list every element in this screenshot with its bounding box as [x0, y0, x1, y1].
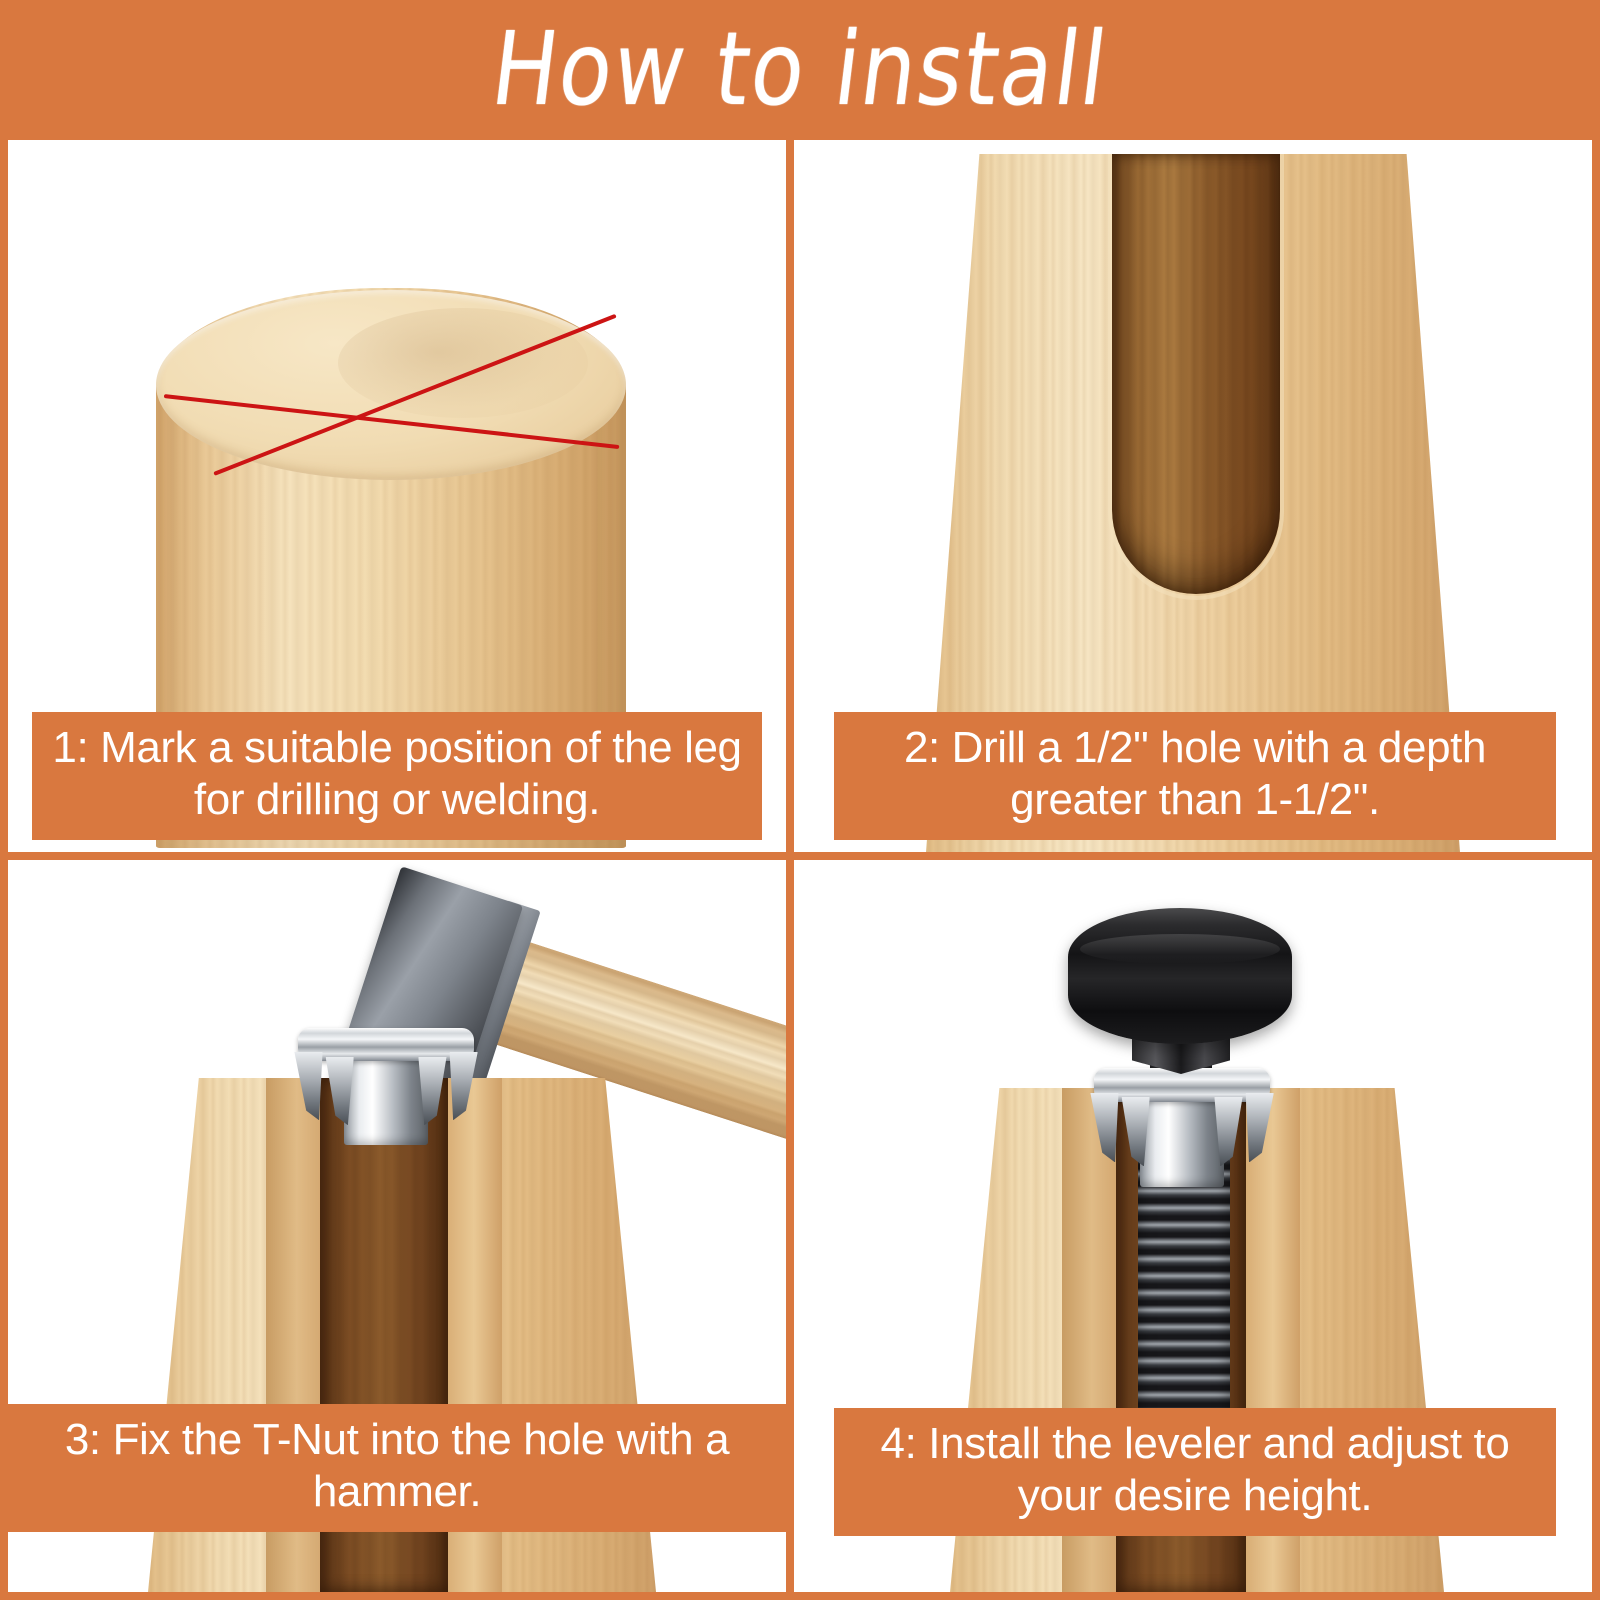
leveler-disc-highlight [1080, 934, 1280, 964]
step-panel-3: 3: Fix the T-Nut into the hole with a ha… [8, 860, 786, 1592]
t-nut-prong [1238, 1093, 1273, 1162]
header-banner: How to install [0, 0, 1600, 140]
t-nut-prong [442, 1052, 477, 1120]
threaded-bolt-shaft [1138, 1148, 1230, 1448]
step-panel-2: 2: Drill a 1/2" hole with a depth greate… [794, 140, 1592, 852]
step-panel-1: 1: Mark a suitable position of the leg f… [8, 140, 786, 852]
page-title: How to install [486, 11, 1115, 129]
step-panel-4: 4: Install the leveler and adjust to you… [794, 860, 1592, 1592]
step-3-caption: 3: Fix the T-Nut into the hole with a ha… [8, 1404, 786, 1532]
step-2-caption: 2: Drill a 1/2" hole with a depth greate… [834, 712, 1556, 840]
t-nut-flange [298, 1028, 474, 1061]
t-nut-icon [1094, 1068, 1270, 1180]
leveler-base-disc [1068, 908, 1292, 1044]
step-4-caption: 4: Install the leveler and adjust to you… [834, 1408, 1556, 1536]
drilled-hole-rim [1108, 154, 1284, 600]
steps-grid: 1: Mark a suitable position of the leg f… [0, 140, 1600, 1600]
wood-top-shading [338, 308, 588, 418]
t-nut-prong [294, 1052, 329, 1120]
step-1-caption: 1: Mark a suitable position of the leg f… [32, 712, 762, 840]
t-nut-icon [298, 1028, 474, 1138]
t-nut-prong [1090, 1093, 1125, 1162]
infographic-page: How to install 1: Mark a suitable positi… [0, 0, 1600, 1600]
